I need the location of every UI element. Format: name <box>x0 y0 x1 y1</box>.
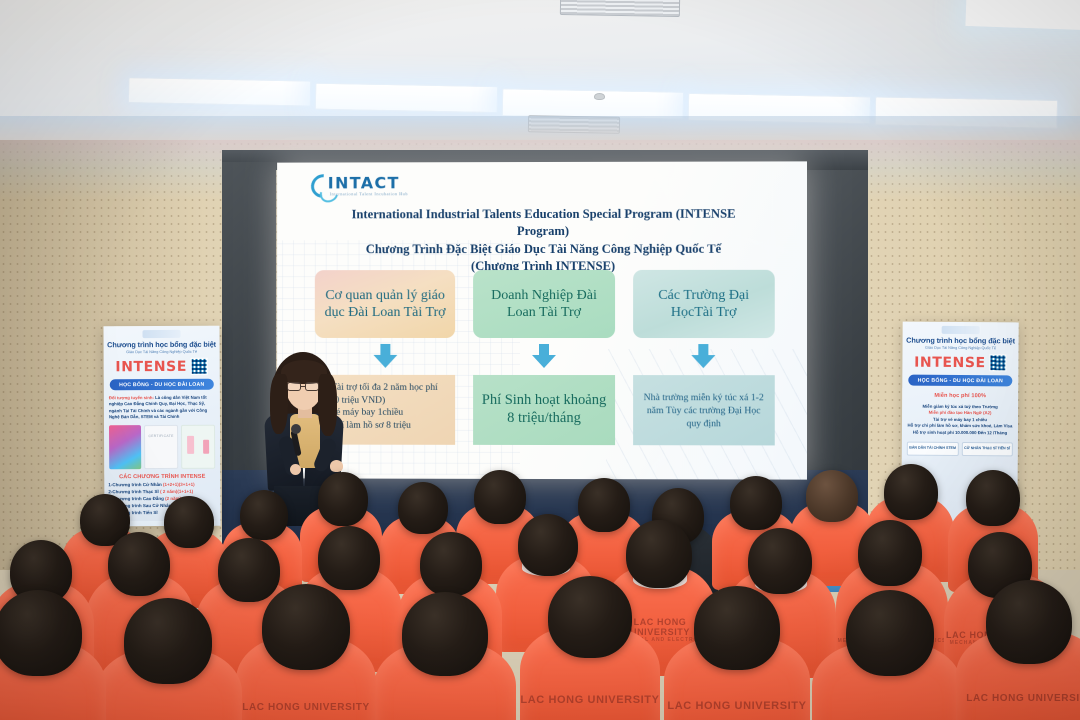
audience-head-front <box>846 590 934 676</box>
banner-pill: HỌC BỔNG - DU HỌC ĐÀI LOAN <box>110 379 214 391</box>
banner-benefit-item: Hỗ trợ sinh hoạt phí 10.000.000 Đến 12 /… <box>907 429 1013 436</box>
flow-node-bottom: Phí Sinh hoạt khoảng 8 triệu/tháng <box>473 375 614 445</box>
ceiling-air-vent-mid <box>528 115 620 134</box>
audience-head <box>884 464 938 520</box>
audience-head <box>318 526 380 590</box>
intact-tagline: International Talent Incubation Hub <box>330 191 408 196</box>
presenter-hair-left <box>270 374 288 434</box>
banner-logo-chip <box>142 330 180 338</box>
audience-head <box>398 482 448 534</box>
audience-head-front <box>124 598 212 684</box>
shirt-print-line1: LAC HONG UNIVERSITY <box>236 702 376 713</box>
flow-column-enterprise: Doanh Nghiệp Đài Loan Tài Trợ Phí Sinh h… <box>473 270 614 456</box>
banner-image-photos <box>181 424 215 468</box>
microphone-head-icon <box>291 424 301 434</box>
down-arrow-icon <box>372 344 398 370</box>
qr-code-icon <box>990 354 1007 371</box>
shirt-print-line1: LAC HONG UNIVERSITY <box>664 700 810 712</box>
ceiling-light-row <box>128 77 1058 125</box>
shirt-print: LAC HONG UNIVERSITY <box>520 694 660 706</box>
banner-tag-box: CỬ NHÂN THẠC SĨ TIẾN SĨ <box>961 442 1013 456</box>
banner-tag-boxes: BÁN DẪN TÀI CHÍNH STEM CỬ NHÂN THẠC SĨ T… <box>907 442 1013 456</box>
slide-title-en-2: Program) <box>321 222 767 239</box>
glasses-icon <box>287 382 301 391</box>
intact-logo: INTACT International Talent Incubation H… <box>311 170 432 204</box>
audience-head <box>626 520 692 588</box>
shirt-print: LAC HONG UNIVERSITY <box>236 702 376 713</box>
banner-benefit-list: Miễn giảm ký túc xá tuỳ theo Trường Miễn… <box>907 404 1013 437</box>
presentation-room-photo: INTACT International Talent Incubation H… <box>0 0 1080 720</box>
ceiling-air-vent-top <box>560 0 680 17</box>
flow-node-top: Các Trường Đại HọcTài Trợ <box>633 270 775 338</box>
banner-tag-box: BÁN DẪN TÀI CHÍNH STEM <box>907 442 959 456</box>
ceiling-light-panel <box>128 77 311 107</box>
banner-logo-chip <box>942 326 980 334</box>
audience-head <box>748 528 812 594</box>
audience-head <box>966 470 1020 526</box>
banner-pill: HỌC BỔNG - DU HỌC ĐÀI LOAN <box>908 375 1012 387</box>
slide-title: International Industrial Talents Educati… <box>321 206 767 275</box>
audience-head <box>730 476 782 530</box>
ceiling-light-panel <box>688 93 871 125</box>
audience-head-front <box>262 584 350 670</box>
audience-head <box>806 470 858 522</box>
audience-head <box>578 478 630 532</box>
ceiling-light-panel <box>501 88 684 120</box>
banner-brand-row: INTENSE <box>104 358 220 376</box>
slide-flow-diagram: Cơ quan quản lý giáo dục Đài Loan Tài Tr… <box>315 270 775 457</box>
shirt-print-line1: LAC HONG UNIVERSITY <box>956 693 1080 704</box>
audience-head-front <box>548 576 632 658</box>
banner-heading: Chương trình học bổng đặc biệt <box>104 340 220 350</box>
shirt-print: LAC HONG UNIVERSITY <box>664 700 810 712</box>
flow-node-top: Cơ quan quản lý giáo dục Đài Loan Tài Tr… <box>315 270 456 338</box>
audience-head <box>518 514 578 576</box>
banner-heading: Chương trình học bổng đặc biệt <box>903 336 1019 346</box>
presenter-hair-right <box>318 374 337 436</box>
glasses-icon <box>305 382 319 391</box>
audience-head <box>474 470 526 524</box>
audience-head <box>164 496 214 548</box>
down-arrow-icon <box>531 344 557 370</box>
audience-head-front <box>0 590 82 676</box>
ceiling-light-panel <box>875 96 1058 129</box>
banner-brand: INTENSE <box>115 358 187 374</box>
flow-column-universities: Các Trường Đại HọcTài Trợ Nhà trường miễ… <box>633 270 775 457</box>
audience-head <box>858 520 922 586</box>
audience-head-front <box>402 592 488 676</box>
ceiling-light-corner <box>965 0 1080 30</box>
banner-brand: INTENSE <box>914 354 986 370</box>
audience-head-front <box>694 586 780 670</box>
shirt-print: LAC HONG UNIVERSITY <box>956 693 1080 704</box>
slide-title-vi-1: Chương Trình Đặc Biệt Giáo Dục Tài Năng … <box>321 241 767 258</box>
banner-headline: Miễn học phí 100% <box>902 393 1018 400</box>
slide-title-en-1: International Industrial Talents Educati… <box>352 207 736 222</box>
banner-body-lead: Đối tượng tuyển sinh: <box>109 395 154 400</box>
ceiling-light-panel <box>315 83 498 114</box>
banner-brand-row: INTENSE <box>902 354 1018 372</box>
down-arrow-icon <box>691 344 717 370</box>
audience-head-front <box>986 580 1072 664</box>
intact-wordmark: INTACT <box>328 173 400 192</box>
audience-head <box>318 472 368 526</box>
smoke-detector-icon <box>594 93 605 100</box>
audience-head <box>420 532 482 596</box>
ceiling <box>0 0 1080 152</box>
banner-subheading: Giáo Dục Tài Năng Công Nghiệp Quốc Tế <box>104 350 220 355</box>
banner-image-certificate <box>144 425 178 469</box>
banner-image-gradient <box>109 425 141 469</box>
shirt-print-line1: LAC HONG UNIVERSITY <box>520 694 660 706</box>
audience-head <box>108 532 170 596</box>
audience: LAC HONG UNIVERSITY MECHANICAL AND ELECT… <box>0 470 1080 720</box>
banner-image-strip <box>109 424 215 469</box>
banner-body: Đối tượng tuyển sinh: Là công dân Việt N… <box>109 395 215 421</box>
glasses-bridge <box>301 386 306 387</box>
audience-head <box>240 490 288 540</box>
qr-code-icon <box>191 358 208 375</box>
flow-node-top: Doanh Nghiệp Đài Loan Tài Trợ <box>473 270 614 338</box>
banner-subheading: Giáo Dục Tài Năng Công Nghiệp Quốc Tế <box>903 346 1019 351</box>
audience-head <box>218 538 280 602</box>
flow-node-bottom: Nhà trường miễn ký túc xá 1-2 năm Tùy cá… <box>633 375 775 445</box>
